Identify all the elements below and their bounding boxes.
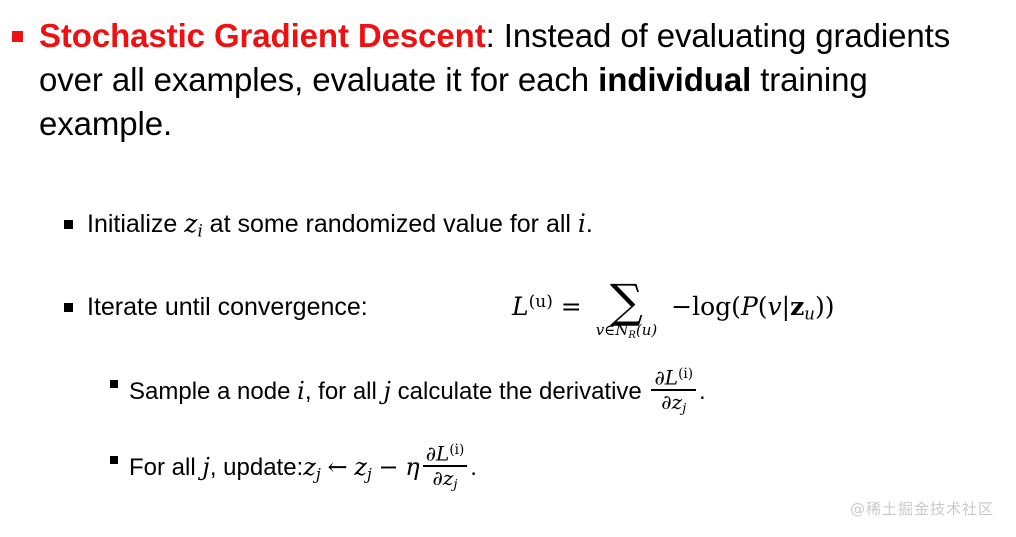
main-bullet-row: Stochastic Gradient Descent: Instead of … — [12, 14, 1002, 146]
summation-index: v∈NR(u) — [596, 323, 658, 341]
equals-sign: = — [561, 292, 582, 321]
subsub-bullet-sample-row: Sample a node i, for all j calculate the… — [110, 368, 1010, 418]
sample-part2: , for all — [305, 378, 384, 405]
loss-formula-expression: L(u) = ∑ v∈NR(u) −log(P(v|zu)) — [512, 278, 834, 339]
update-numerator: ∂L(i) — [423, 443, 468, 465]
variable-z-i: zi — [184, 209, 202, 238]
sample-var-j: j — [384, 377, 391, 405]
derivative-denominator: ∂zj — [658, 391, 689, 417]
update-var-j: j — [202, 453, 209, 481]
derivative-numerator: ∂L(i) — [651, 367, 696, 389]
sample-part3: calculate the derivative — [391, 378, 648, 405]
log-term: log(P(v|zu)) — [692, 292, 834, 321]
minus-sign: − — [379, 453, 399, 481]
loss-symbol: L — [512, 292, 529, 321]
update-part2: , update: — [210, 454, 303, 481]
sample-var-i: i — [297, 377, 305, 405]
update-derivative-fraction: ∂L(i) ∂zj — [423, 443, 468, 493]
sub-bullet-initialize-text: Initialize zi at some randomized value f… — [87, 207, 593, 249]
eta-symbol: η — [405, 453, 419, 481]
summation-block: ∑ v∈NR(u) — [596, 280, 658, 341]
update-period: . — [470, 454, 477, 481]
left-arrow-icon: ← — [327, 453, 347, 481]
watermark-text: @稀土掘金技术社区 — [850, 498, 994, 519]
variable-i: i — [578, 209, 586, 238]
update-rhs: zj — [354, 453, 372, 481]
subsub-bullet-update-row: For all j, update:zj ← zj − η ∂L(i) ∂zj … — [110, 444, 1010, 494]
initialize-prefix: Initialize — [87, 210, 184, 238]
sub-bullet-iterate-text: Iterate until convergence: — [87, 290, 368, 324]
derivative-fraction: ∂L(i) ∂zj — [651, 367, 696, 417]
subsub-bullet-update-text: For all j, update:zj ← zj − η ∂L(i) ∂zj … — [129, 444, 477, 494]
sub-bullet-initialize-row: Initialize zi at some randomized value f… — [64, 207, 984, 249]
var-z: z — [184, 209, 197, 238]
update-part1: For all — [129, 454, 202, 481]
main-bullet-text: Stochastic Gradient Descent: Instead of … — [39, 14, 1002, 146]
initialize-period: . — [586, 210, 593, 238]
red-square-bullet-icon — [12, 31, 23, 42]
individual-emphasis: individual — [598, 61, 751, 98]
slide-canvas: Stochastic Gradient Descent: Instead of … — [0, 0, 1016, 537]
update-denominator: ∂zj — [429, 467, 460, 493]
sigma-icon: ∑ — [610, 280, 643, 322]
subsub-bullet-sample-text: Sample a node i, for all j calculate the… — [129, 368, 706, 418]
sgd-title: Stochastic Gradient Descent — [39, 17, 486, 54]
black-square-bullet-icon — [110, 456, 118, 464]
black-square-bullet-icon — [64, 220, 73, 229]
update-lhs: zj — [303, 453, 321, 481]
initialize-middle: at some randomized value for all — [203, 210, 578, 238]
black-square-bullet-icon — [64, 303, 73, 312]
sample-part1: Sample a node — [129, 378, 297, 405]
black-square-bullet-icon — [110, 380, 118, 388]
sample-period: . — [699, 378, 706, 405]
negative-sign: − — [671, 292, 692, 321]
loss-formula: L(u) = ∑ v∈NR(u) −log(P(v|zu)) — [512, 278, 834, 339]
iterate-label: Iterate until convergence: — [87, 293, 368, 321]
loss-superscript: (u) — [529, 292, 553, 312]
